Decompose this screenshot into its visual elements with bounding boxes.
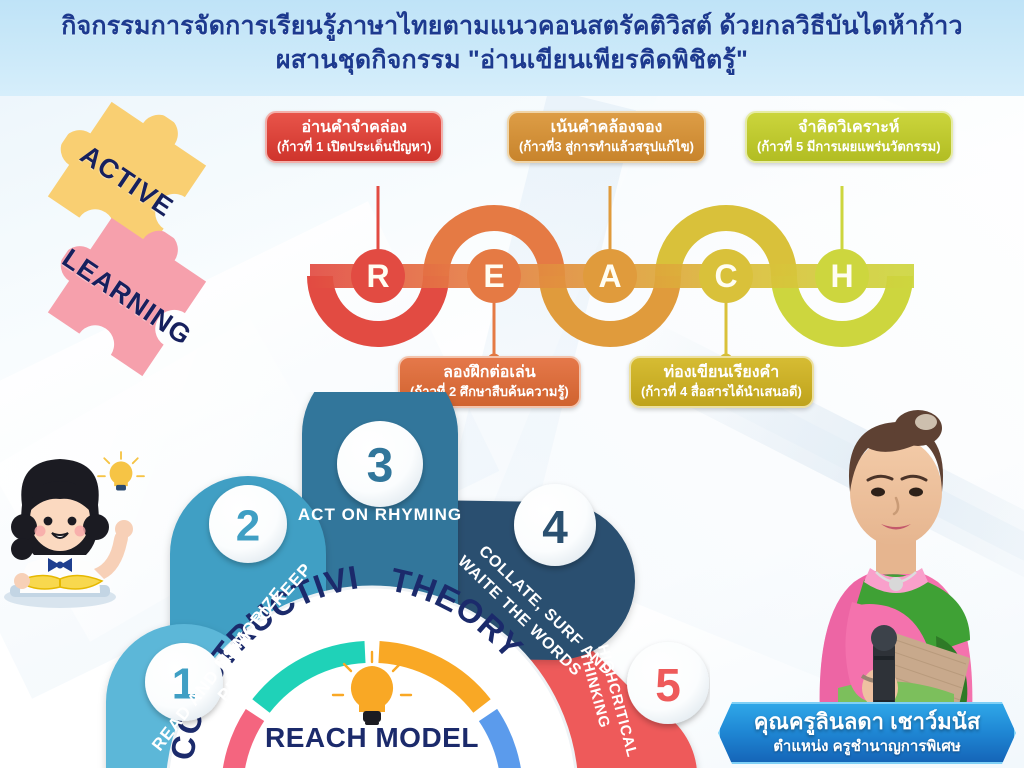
puzzle-piece-learning: LEARNING bbox=[23, 193, 231, 401]
bowtie-knot bbox=[57, 562, 64, 569]
step-number-label: 4 bbox=[542, 501, 568, 553]
student-reading-illustration bbox=[2, 445, 152, 615]
hair-bun bbox=[894, 410, 942, 446]
step-number-4: 4 bbox=[514, 484, 596, 566]
hair-curl-left-2 bbox=[11, 538, 33, 560]
reach-letter-e: E bbox=[467, 249, 521, 303]
reach-letter-label: E bbox=[483, 258, 504, 294]
callout-step-3: เน้นคำคล้องจอง (ก้าวที่3 สู่การทำแล้วสรุ… bbox=[507, 111, 706, 163]
step-number-5: 5 bbox=[627, 642, 709, 724]
reach-letter-c: C bbox=[699, 249, 753, 303]
puzzle-shape-icon bbox=[23, 193, 231, 401]
wheel-center-label: REACH MODEL bbox=[265, 722, 479, 753]
callout-title: เน้นคำคล้องจอง bbox=[519, 118, 694, 138]
hair-accessory bbox=[915, 414, 937, 430]
reach-letter-a: A bbox=[583, 249, 637, 303]
cheek-right bbox=[75, 526, 86, 537]
step-number-label: 5 bbox=[655, 659, 681, 711]
face bbox=[850, 438, 942, 546]
brooch bbox=[889, 577, 903, 591]
step-label-3: ACT ON RHYMING bbox=[298, 505, 462, 524]
hand-holding-book bbox=[14, 573, 30, 589]
reach-letter-h: H bbox=[815, 249, 869, 303]
callout-step-5: จำคิดวิเคราะห์ (ก้าวที่ 5 มีการเผยแพร่นว… bbox=[745, 111, 953, 163]
teacher-photo bbox=[768, 388, 1024, 718]
step-number-label: 3 bbox=[367, 440, 394, 493]
presenter-position: ตำแหน่ง ครูชำนาญการพิเศษ bbox=[720, 737, 1014, 757]
reach-letter-label: H bbox=[830, 258, 853, 294]
eye-right bbox=[909, 488, 923, 497]
callout-subtitle: (ก้าวที่3 สู่การทำแล้วสรุปแก้ไข) bbox=[519, 138, 694, 155]
callout-title: ท่องเขียนเรียงคำ bbox=[641, 363, 802, 383]
title-line-1: กิจกรรมการจัดการเรียนรู้ภาษาไทยตามแนวคอน… bbox=[0, 9, 1024, 43]
reach-letter-r: R bbox=[351, 249, 405, 303]
poster-header: กิจกรรมการจัดการเรียนรู้ภาษาไทยตามแนวคอน… bbox=[0, 0, 1024, 96]
reach-letter-label: C bbox=[714, 258, 737, 294]
raised-hand bbox=[115, 520, 133, 538]
callout-step-1: อ่านคำจำคล่อง (ก้าวที่ 1 เปิดประเด็นปัญห… bbox=[265, 111, 443, 163]
callout-subtitle: (ก้าวที่ 1 เปิดประเด็นปัญหา) bbox=[277, 138, 431, 155]
step-number-3: 3 bbox=[337, 421, 423, 507]
callout-subtitle: (ก้าวที่ 5 มีการเผยแพร่นวัตกรรม) bbox=[757, 138, 941, 155]
hair-curl-right bbox=[83, 514, 109, 540]
eye-left bbox=[44, 517, 53, 526]
infographic-poster: กิจกรรมการจัดการเรียนรู้ภาษาไทยตามแนวคอน… bbox=[0, 0, 1024, 768]
step-number-2: 2 bbox=[209, 485, 287, 563]
idea-lightbulb-icon bbox=[98, 452, 144, 490]
callout-title: จำคิดวิเคราะห์ bbox=[757, 118, 941, 138]
callout-title: ลองฝึกต่อเล่น bbox=[410, 363, 569, 383]
callout-title: อ่านคำจำคล่อง bbox=[277, 118, 431, 138]
cheek-left bbox=[35, 526, 46, 537]
step-number-label: 2 bbox=[236, 502, 260, 551]
reach-letter-label: A bbox=[598, 258, 621, 294]
reach-wave-diagram: R E A C H bbox=[300, 186, 924, 366]
eye-right bbox=[68, 517, 77, 526]
eye-left bbox=[871, 488, 885, 497]
reach-letter-label: R bbox=[366, 258, 389, 294]
title-line-2: ผสานชุดกิจกรรม "อ่านเขียนเพียรคิดพิชิตรู… bbox=[0, 43, 1024, 77]
presenter-name: คุณครูลินลดา เชาว์มนัส bbox=[720, 704, 1014, 737]
hair-curl-left bbox=[11, 514, 37, 540]
presenter-name-banner: คุณครูลินลดา เชาว์มนัส ตำแหน่ง ครูชำนาญก… bbox=[718, 702, 1016, 764]
